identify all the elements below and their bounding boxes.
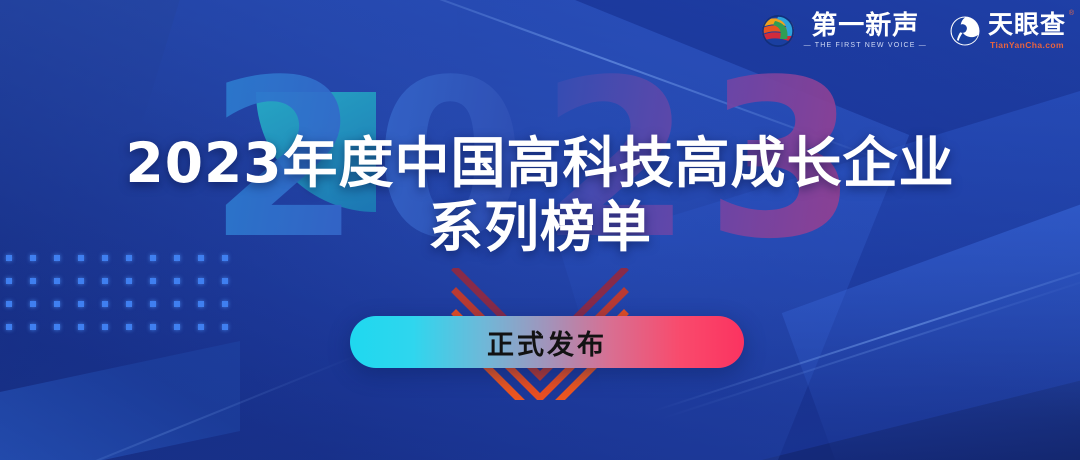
logo-tianyancha-name: 天眼查 [988, 12, 1066, 38]
logo-first-new-voice[interactable]: 第一新声 — THE FIRST NEW VOICE — [759, 12, 927, 50]
registered-trademark-icon: ® [1069, 10, 1074, 17]
release-announcement-label: 正式发布 [487, 323, 607, 362]
title-line-secondary: 系列榜单 [0, 198, 1080, 256]
logo-tianyancha[interactable]: 天眼查 ® TianYanCha.com [949, 12, 1066, 49]
eye-swirl-icon [949, 15, 981, 47]
ribbon-globe-icon [759, 12, 797, 50]
background-wedge-bottom-left [0, 341, 240, 460]
light-streak [0, 351, 365, 460]
page-title: 2023年度中国高科技高成长企业 系列榜单 [0, 134, 1080, 257]
logo-first-new-voice-name: 第一新声 [811, 13, 919, 40]
logo-tianyancha-domain: TianYanCha.com [990, 40, 1064, 50]
dot-grid-decoration [6, 255, 246, 347]
banner-canvas: 2023 [0, 0, 1080, 460]
release-announcement-button[interactable]: 正式发布 [350, 316, 744, 368]
header-logos: 第一新声 — THE FIRST NEW VOICE — 天眼查 ® TianY… [759, 12, 1066, 50]
logo-first-new-voice-tagline: — THE FIRST NEW VOICE — [804, 42, 927, 49]
title-line-primary: 2023年度中国高科技高成长企业 [0, 134, 1080, 192]
